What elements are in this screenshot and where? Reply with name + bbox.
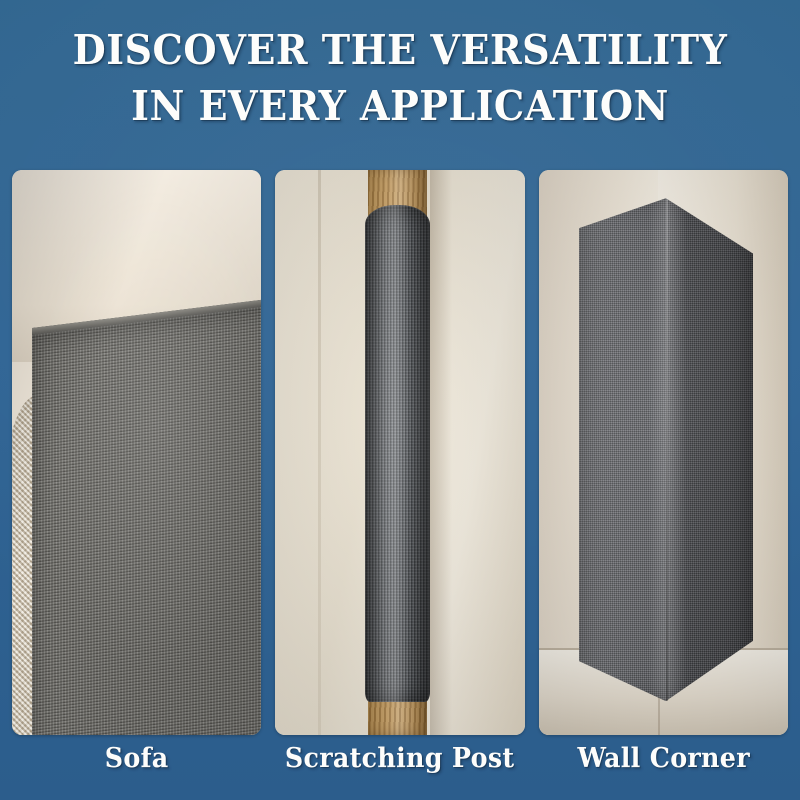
headline-line-2: IN EVERY APPLICATION xyxy=(28,78,772,134)
caption-wall-corner: Wall Corner xyxy=(546,742,780,776)
panel-grid xyxy=(12,170,788,735)
product-infographic-poster: DISCOVER THE VERSATILITY IN EVERY APPLIC… xyxy=(0,0,800,800)
panel-wall-corner xyxy=(539,170,788,735)
caption-row: Sofa Scratching Post Wall Corner xyxy=(12,742,788,776)
caption-scratching-post: Scratching Post xyxy=(283,742,517,776)
panel-scratching-post xyxy=(275,170,524,735)
headline-line-1: DISCOVER THE VERSATILITY xyxy=(28,22,772,78)
headline: DISCOVER THE VERSATILITY IN EVERY APPLIC… xyxy=(0,22,800,134)
photo-sofa xyxy=(12,170,261,735)
panel-sofa xyxy=(12,170,261,735)
sofa-photo-shading xyxy=(12,170,261,735)
corner-photo-vignette xyxy=(539,170,788,735)
photo-scratching-post xyxy=(275,170,524,735)
caption-sofa: Sofa xyxy=(19,742,253,776)
post-photo-vignette xyxy=(275,170,524,735)
photo-wall-corner xyxy=(539,170,788,735)
